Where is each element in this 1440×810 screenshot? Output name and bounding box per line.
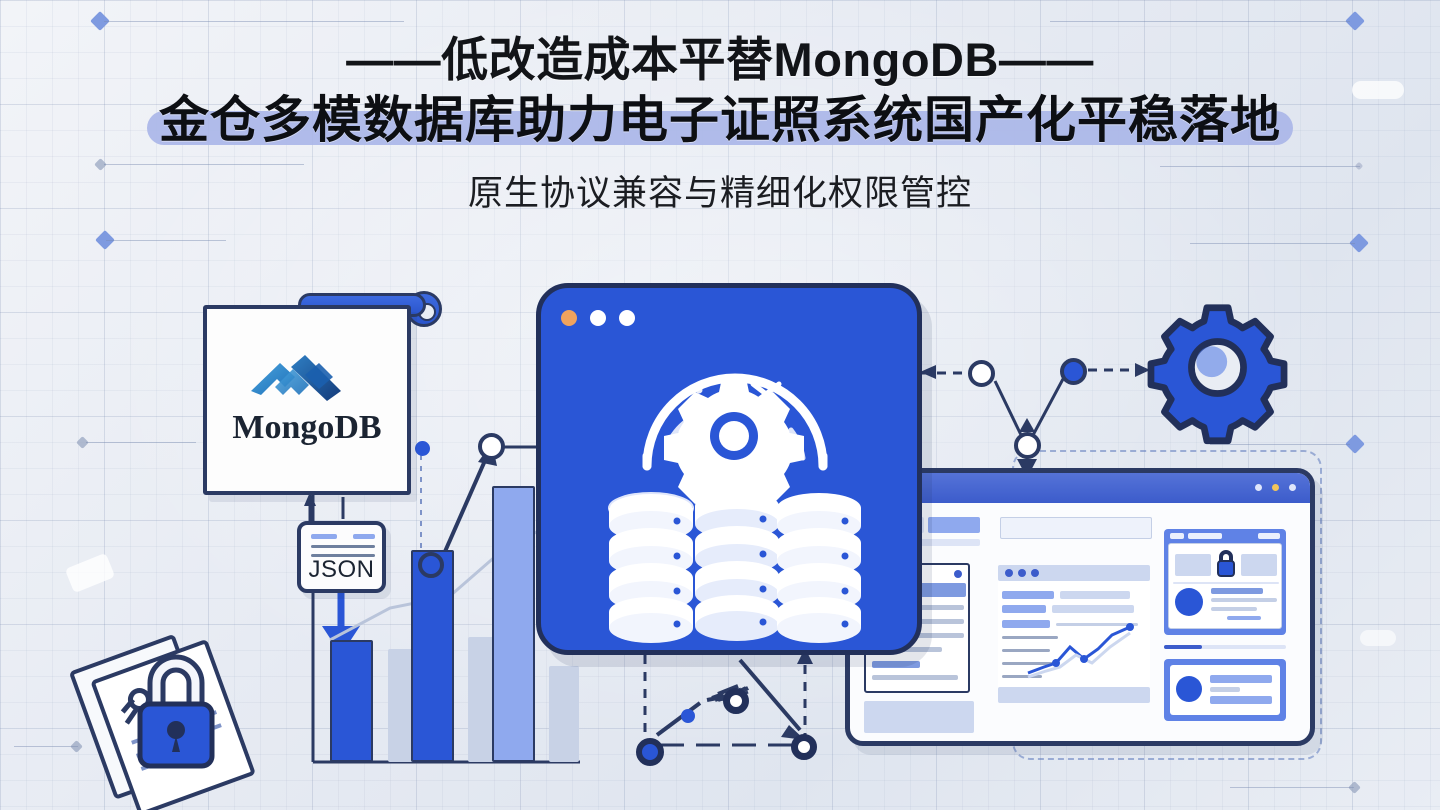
mongodb-card[interactable]: MongoDB xyxy=(203,305,411,495)
dash-user-line-4 xyxy=(1227,616,1261,620)
dash-right-divider-fill xyxy=(1164,645,1202,649)
line-chart-icon xyxy=(1026,623,1146,679)
node-bar-low xyxy=(418,552,444,578)
dash-main-card[interactable] xyxy=(998,565,1150,703)
dash-role-inner xyxy=(1170,665,1280,715)
net-node-bottom-left xyxy=(636,738,664,766)
core-engine-panel[interactable] xyxy=(536,283,922,655)
dash-user-tab-3[interactable] xyxy=(1258,533,1280,539)
dash-user-line-1 xyxy=(1211,588,1263,594)
dash-role-line-2 xyxy=(1210,687,1240,692)
dash-search-bar[interactable] xyxy=(1000,517,1152,539)
json-line-b xyxy=(353,534,375,539)
node-small-dot xyxy=(415,441,430,456)
database-stack-icon xyxy=(609,491,861,643)
dash-list-row-6 xyxy=(872,675,958,680)
dash-footer-block xyxy=(864,701,974,733)
dash-role-line-1 xyxy=(1210,675,1272,683)
dash-user-tab-1[interactable] xyxy=(1170,533,1184,539)
dash-head-pill xyxy=(928,517,980,533)
dash-dot-3[interactable] xyxy=(1289,484,1296,491)
dash-user-panel[interactable] xyxy=(1164,529,1286,635)
main-title-wrap: 金仓多模数据库助力电子证照系统国产化平稳落地 xyxy=(159,91,1281,149)
dash-list-row-5 xyxy=(872,661,920,668)
net-node-bottom-small xyxy=(681,709,695,723)
mongodb-wordmark: MongoDB xyxy=(232,409,381,447)
dash-main-dot-2[interactable] xyxy=(1018,569,1026,577)
dash-main-line-4 xyxy=(1052,605,1134,613)
header: ——低改造成本平替MongoDB—— 金仓多模数据库助力电子证照系统国产化平稳落… xyxy=(0,34,1440,216)
json-line-c xyxy=(311,545,375,548)
net-node-bottom-right xyxy=(791,734,817,760)
dash-main-line-2 xyxy=(1060,591,1130,599)
json-bubble[interactable]: JSON xyxy=(297,521,386,593)
dash-main-dot-3[interactable] xyxy=(1031,569,1039,577)
dash-user-divider xyxy=(1173,582,1279,584)
dash-user-line-3 xyxy=(1211,607,1257,611)
gear-icon xyxy=(1151,308,1284,441)
dash-main-line-1 xyxy=(1002,591,1054,599)
slide-canvas: ——低改造成本平替MongoDB—— 金仓多模数据库助力电子证照系统国产化平稳落… xyxy=(0,0,1440,810)
bar-2 xyxy=(411,550,454,762)
mongodb-leaf-icon xyxy=(247,353,367,405)
gear-right xyxy=(1150,300,1285,435)
role-avatar-icon xyxy=(1176,676,1202,702)
bar-shadow-3 xyxy=(549,666,579,762)
dash-user-box-r xyxy=(1241,554,1277,576)
user-avatar-icon xyxy=(1175,588,1203,616)
dash-user-inner xyxy=(1168,543,1282,629)
bar-1 xyxy=(330,640,373,762)
bar-3 xyxy=(492,486,535,762)
lock-badge-icon xyxy=(1213,548,1239,580)
dash-dot-2[interactable] xyxy=(1272,484,1279,491)
dash-list-dot xyxy=(954,570,962,578)
dash-main-line-3 xyxy=(1002,605,1046,613)
dashboard-window-dots xyxy=(1255,484,1296,491)
dash-main-footer xyxy=(998,687,1150,703)
json-label: JSON xyxy=(301,556,382,584)
page-subtitle: 原生协议兼容与精细化权限管控 xyxy=(0,165,1440,216)
dash-role-line-3 xyxy=(1210,696,1272,704)
net-node-1 xyxy=(968,360,995,387)
dash-user-line-2 xyxy=(1211,598,1277,602)
net-node-2 xyxy=(1014,432,1041,459)
dash-role-panel[interactable] xyxy=(1164,659,1286,721)
page-title: 金仓多模数据库助力电子证照系统国产化平稳落地 xyxy=(159,91,1281,149)
node-bar-high xyxy=(478,433,505,460)
dash-user-box-l xyxy=(1175,554,1211,576)
net-node-bottom-top xyxy=(723,688,749,714)
json-line-a xyxy=(311,534,337,539)
dash-dot-1[interactable] xyxy=(1255,484,1262,491)
dash-user-tab-2[interactable] xyxy=(1188,533,1222,539)
net-node-3 xyxy=(1060,358,1087,385)
secure-document-group xyxy=(70,620,290,800)
dash-main-dot-1[interactable] xyxy=(1005,569,1013,577)
eyebrow-title: ——低改造成本平替MongoDB—— xyxy=(0,34,1440,87)
